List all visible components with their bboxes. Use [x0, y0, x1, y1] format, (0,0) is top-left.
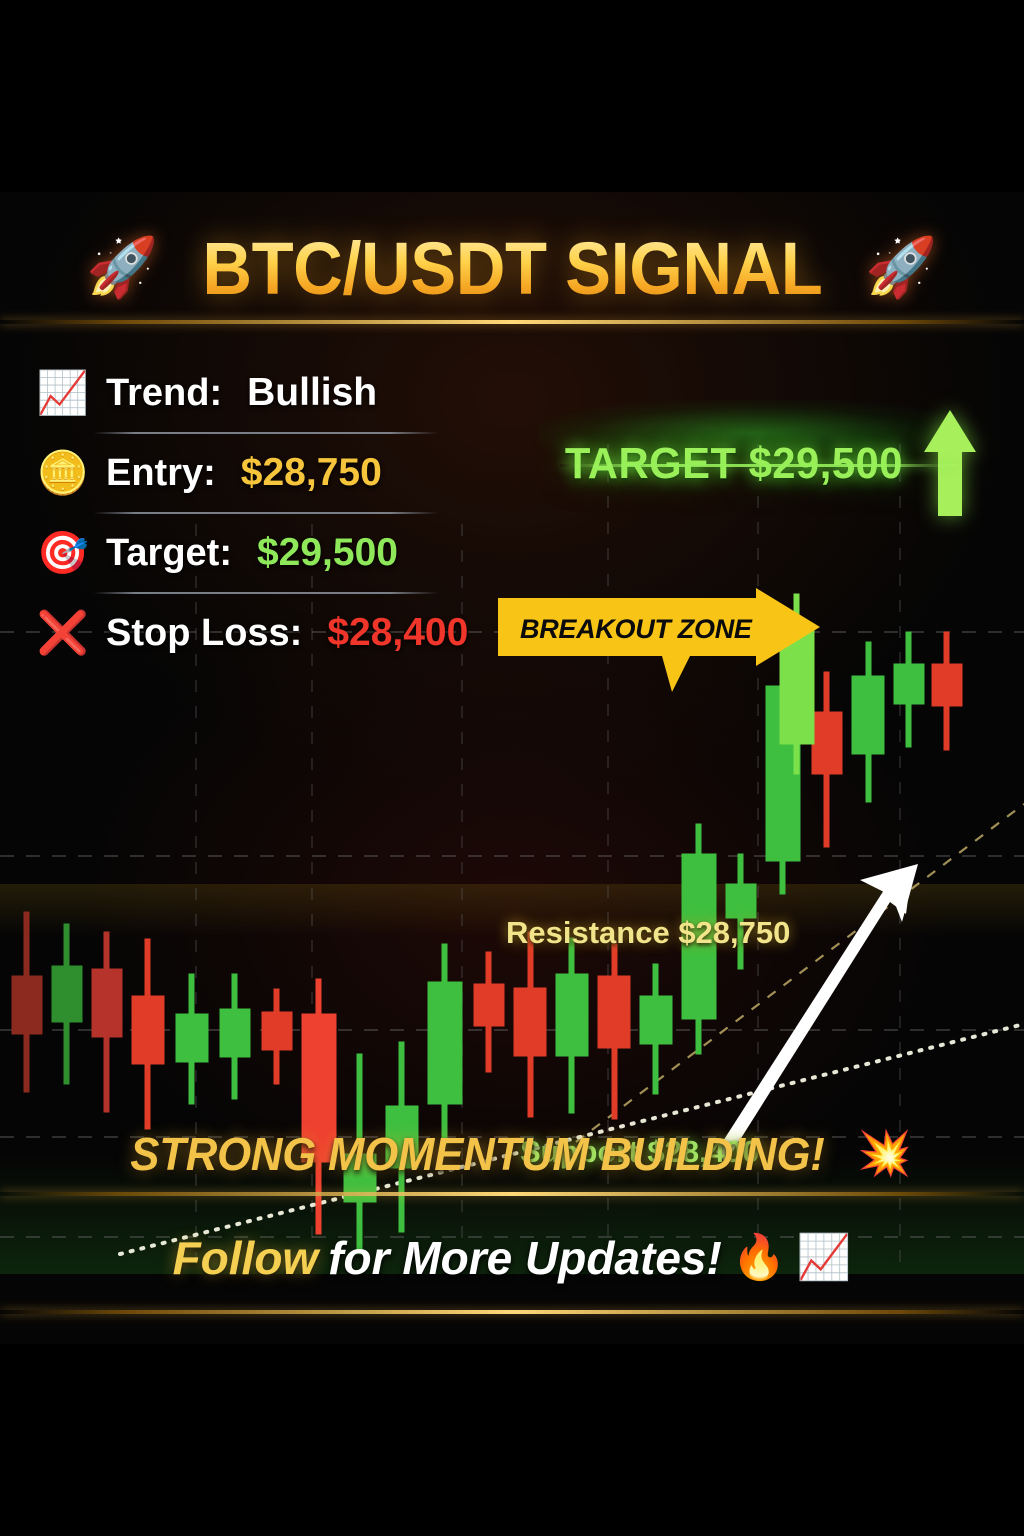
stop-loss-label: Stop Loss: — [106, 612, 302, 655]
fire-icon: 🔥 — [732, 1236, 787, 1280]
signal-row-entry: 🪙 Entry: $28,750 — [36, 434, 466, 512]
chart-increasing-icon: 📈 — [797, 1236, 852, 1280]
divider-under-follow — [0, 1310, 1024, 1314]
breakout-zone-text: BREAKOUT ZONE — [520, 614, 770, 645]
trend-label: Trend: — [106, 372, 222, 415]
rocket-icon-left: 🚀 — [86, 239, 158, 297]
target-label: Target: — [106, 532, 232, 575]
target-icon: 🎯 — [36, 532, 90, 574]
resistance-label: Resistance $28,750 — [506, 915, 790, 951]
entry-value: $28,750 — [241, 451, 382, 495]
target-underline — [560, 464, 958, 467]
signal-row-stop-loss: ❌ Stop Loss: $28,400 — [36, 594, 466, 672]
poster-header: 🚀 BTC/USDT SIGNAL 🚀 — [0, 222, 1024, 314]
signal-details-list: 📈 Trend: Bullish 🪙 Entry: $28,750 🎯 Targ… — [36, 354, 466, 672]
follow-word: Follow — [173, 1231, 319, 1285]
cross-mark-icon: ❌ — [36, 612, 90, 654]
content-panel: 🚀 BTC/USDT SIGNAL 🚀 — [0, 192, 1024, 1344]
signal-row-target: 🎯 Target: $29,500 — [36, 514, 466, 592]
divider-under-momentum — [0, 1192, 1024, 1196]
chart-increasing-icon: 📈 — [36, 372, 90, 414]
stop-loss-value: $28,400 — [327, 611, 468, 655]
trend-value: Bullish — [247, 371, 377, 415]
follow-banner: Follow for More Updates! 🔥 📈 — [0, 1218, 1024, 1298]
collision-icon: 💥 — [857, 1132, 912, 1176]
coin-icon: 🪙 — [36, 452, 90, 494]
momentum-banner: STRONG MOMENTUM BUILDING! 💥 — [0, 1116, 1024, 1192]
rocket-icon-right: 🚀 — [865, 239, 937, 297]
breakout-zone-callout: BREAKOUT ZONE — [494, 588, 824, 705]
page-title: BTC/USDT SIGNAL — [202, 226, 822, 311]
entry-label: Entry: — [106, 452, 216, 495]
momentum-text: STRONG MOMENTUM BUILDING! — [130, 1127, 824, 1181]
follow-rest-text: for More Updates! — [328, 1231, 722, 1285]
signal-row-trend: 📈 Trend: Bullish — [36, 354, 466, 432]
signal-poster: 🚀 BTC/USDT SIGNAL 🚀 — [0, 0, 1024, 1536]
target-value: $29,500 — [257, 531, 398, 575]
